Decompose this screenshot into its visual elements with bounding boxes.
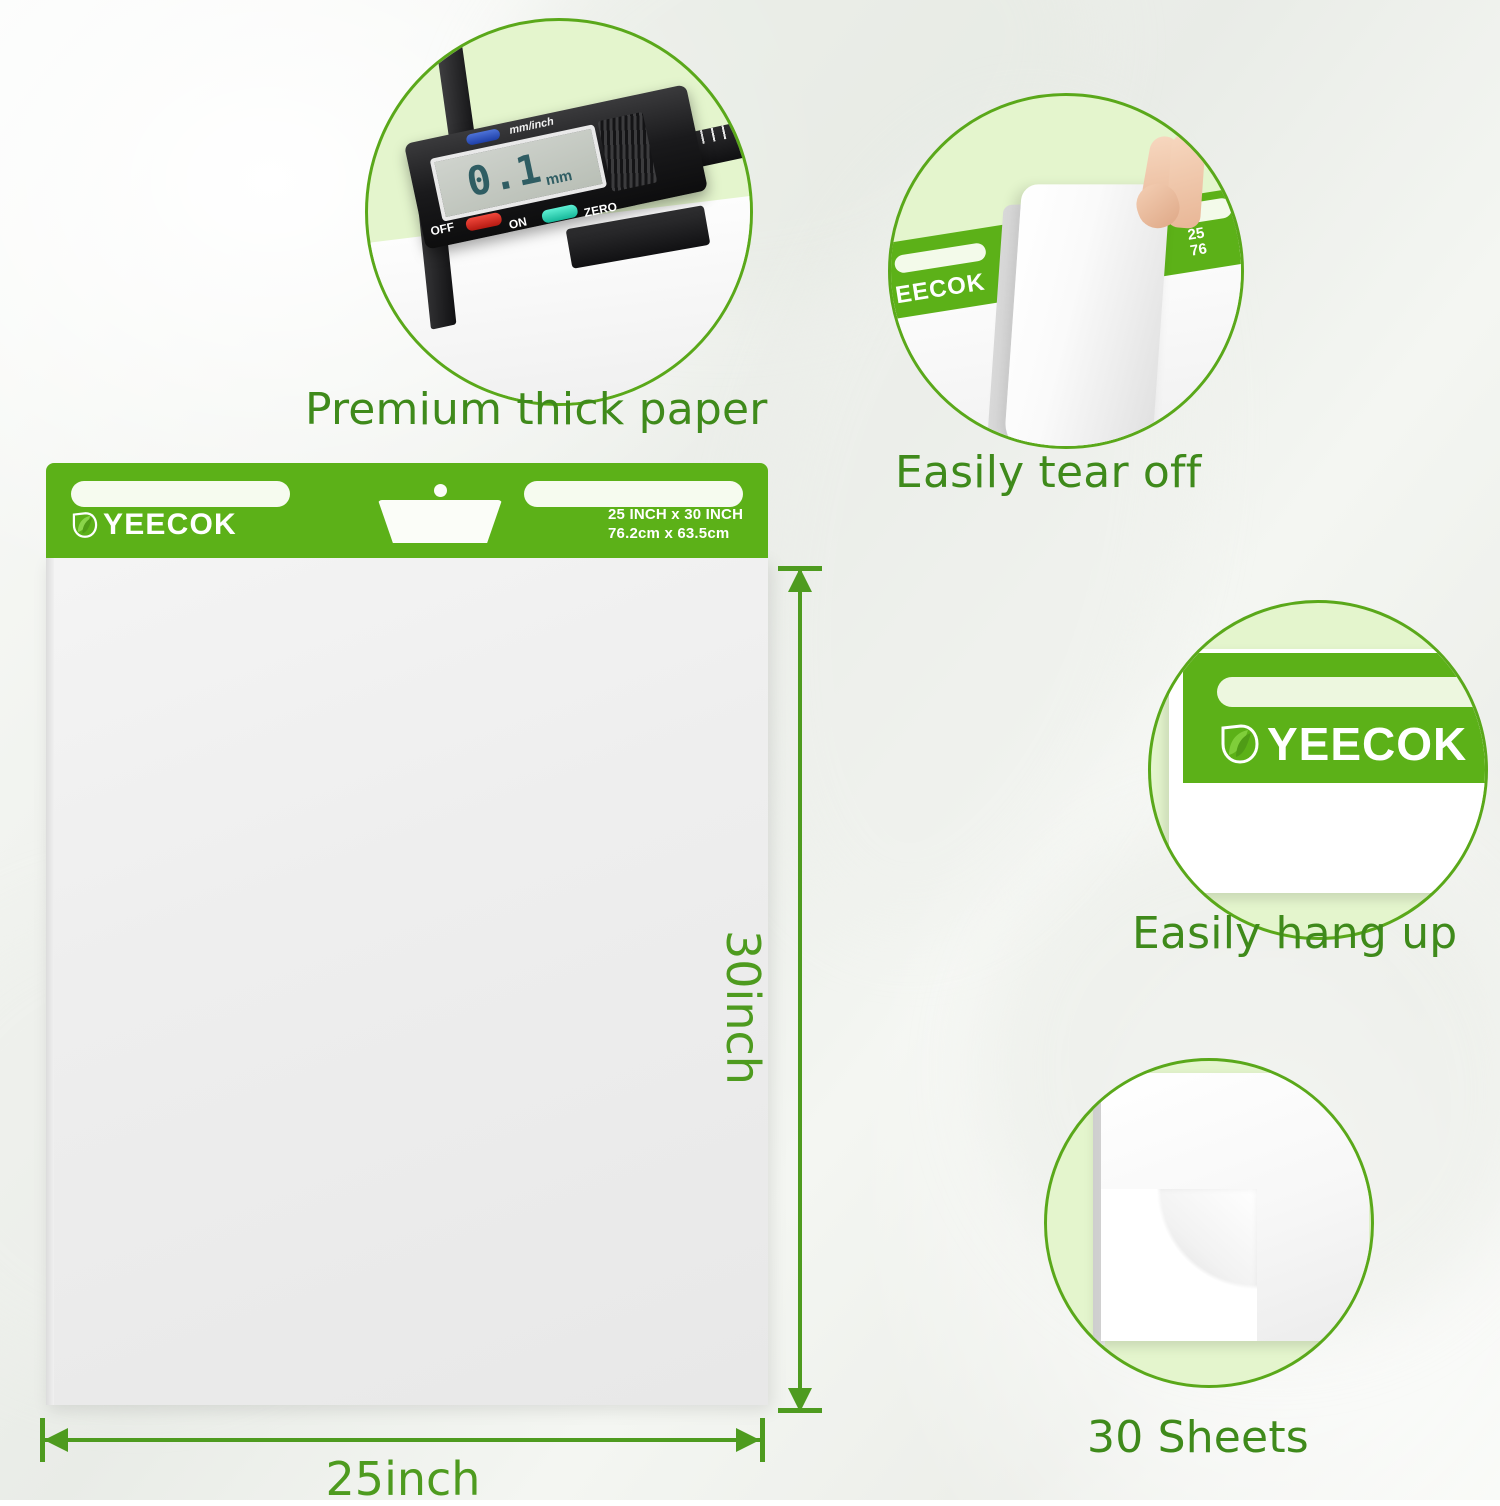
arrow-right-icon	[736, 1428, 760, 1452]
feature-callout-30-sheets	[1044, 1058, 1374, 1388]
curled-page-highlight	[1101, 1189, 1257, 1341]
hang-hole-dot-icon	[434, 484, 447, 497]
caption-easily-tear-off: Easily tear off	[895, 447, 1201, 498]
brand-lockup: YEECOK	[70, 510, 237, 540]
dimension-line-horizontal	[42, 1438, 764, 1442]
product-size-block: 25 INCH x 30 INCH 76.2cm x 63.5cm	[608, 505, 743, 543]
hang-slot-icon	[1217, 677, 1488, 707]
caliper-off-label: OFF	[429, 220, 455, 239]
leaf-icon	[1217, 721, 1263, 767]
caliper-display-value: 0.1	[463, 149, 545, 204]
feature-callout-premium-thick-paper: 60 mm/inch 0.1 mm OFF ON ZERO	[365, 18, 753, 406]
pad-paper-edge	[46, 558, 54, 1405]
product-easel-pad: YEECOK 25 INCH x 30 INCH 76.2cm x 63.5cm	[46, 463, 768, 1405]
dimension-width-label: 25inch	[0, 1452, 806, 1506]
caption-easily-hang-up: Easily hang up	[1132, 908, 1457, 959]
feature-callout-easily-tear-off: EECOK 25 76	[888, 93, 1244, 449]
caliper-lcd-display: 0.1 mm	[430, 124, 608, 222]
pad-paper-surface	[46, 558, 768, 1405]
dimension-height-label: 30inch	[716, 930, 770, 1085]
hang-hole-icon	[378, 500, 502, 543]
feature-callout-easily-hang-up: YEECOK	[1148, 600, 1488, 940]
hand-pulling-icon	[1135, 132, 1213, 236]
dimension-line-vertical	[798, 568, 802, 1413]
hang-slot-icon-left	[71, 481, 290, 507]
arrow-up-icon	[788, 568, 812, 592]
caption-30-sheets: 30 Sheets	[1087, 1412, 1309, 1463]
infographic-canvas: 60 mm/inch 0.1 mm OFF ON ZERO Premium th…	[0, 0, 1500, 1500]
caption-premium-thick-paper: Premium thick paper	[305, 384, 768, 435]
size-imperial: 25 INCH x 30 INCH	[608, 505, 743, 524]
hang-slot-icon-right	[524, 481, 743, 507]
brand-lockup: YEECOK	[1217, 721, 1467, 767]
caliper-thumbwheel-icon	[597, 112, 657, 192]
pad-header-band: YEECOK 25 INCH x 30 INCH 76.2cm x 63.5cm	[46, 463, 768, 558]
corner-num-bottom: 76	[1189, 241, 1208, 259]
arrow-left-icon	[44, 1428, 68, 1452]
size-metric: 76.2cm x 63.5cm	[608, 524, 743, 543]
brand-label: YEECOK	[103, 510, 237, 540]
pad-header-green: YEECOK	[1183, 653, 1488, 783]
dimension-cap-bottom	[778, 1408, 822, 1413]
caliper-mode-button[interactable]	[465, 128, 501, 146]
brand-label: YEECOK	[1267, 721, 1467, 767]
caliper-display-unit: mm	[544, 167, 574, 189]
brand-label-partial: EECOK	[894, 268, 988, 310]
leaf-icon	[70, 510, 100, 540]
